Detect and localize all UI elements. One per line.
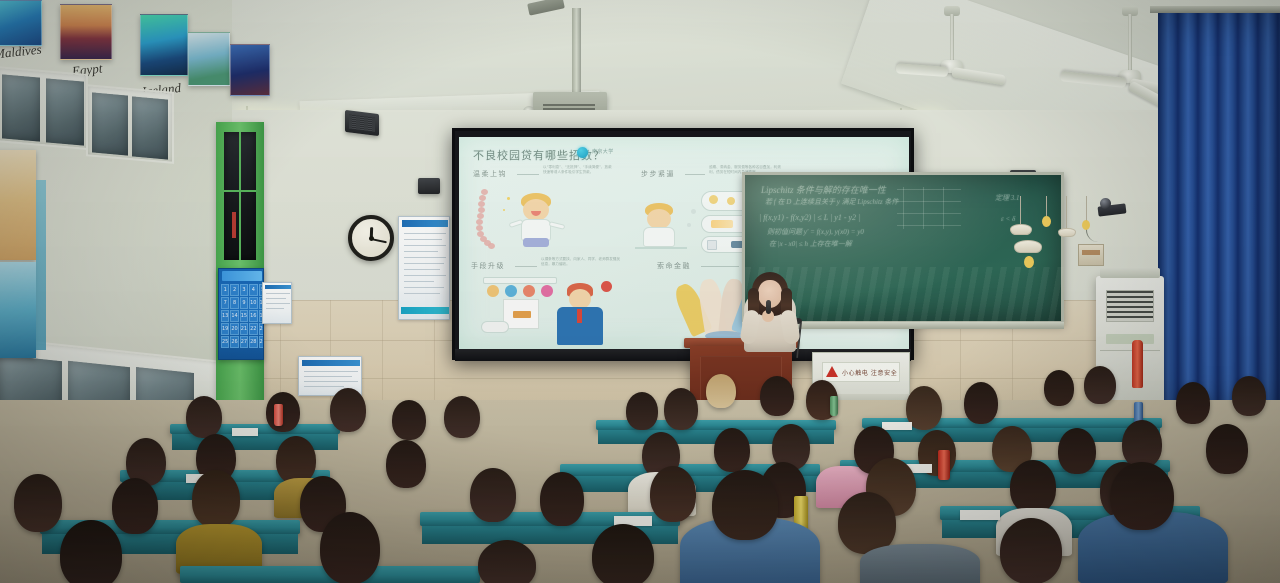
notice-text-line <box>404 275 446 276</box>
student-head <box>14 474 62 532</box>
university-logo-icon <box>577 147 588 158</box>
notice-text-line <box>404 287 444 288</box>
lamp-decal-shade <box>1010 224 1032 235</box>
chalk-line-4: 则初值问题 y' = f(x,y), y(x0) = y0 <box>767 227 864 237</box>
wall-camera-lens <box>1100 198 1111 209</box>
air-conditioner-label <box>1106 334 1154 344</box>
student-torso-foreground <box>860 544 980 583</box>
bulletin-art-left-3 <box>36 180 46 350</box>
notice-text-line <box>404 269 440 270</box>
slide-section-body-1: 以“零利息”、“无抵押”、“手续简便”、放款快速等诱人条件吸引学生贷款。 <box>543 165 615 175</box>
notice-text-line <box>404 251 438 252</box>
calendar-cell: 7 <box>221 297 229 309</box>
student-head <box>1206 424 1248 474</box>
calendar-cell: 22 <box>249 323 257 335</box>
notice-text-line <box>266 308 284 309</box>
slide-art-coin <box>727 197 735 205</box>
student-head <box>1176 382 1210 424</box>
calendar-grid: 1 2 3 4 5 6 7 8 9 10 11 12 13 14 15 16 1… <box>221 284 263 358</box>
chalk-line-1: Lipschitz 条件与解的存在唯一性 <box>761 183 886 196</box>
notebook-on-desk <box>882 422 912 430</box>
notice-text-line <box>304 381 358 382</box>
water-bottle <box>830 396 838 416</box>
slide-section-heading-2: 步步紧逼 <box>641 169 675 179</box>
calendar-cell: 14 <box>230 310 238 322</box>
lamp-decal-cord <box>1086 196 1087 220</box>
notice-text-line <box>404 239 442 240</box>
chalk-line-2: 若 f 在 D 上连续且关于 y 满足 Lipschitz 条件 <box>765 197 898 207</box>
student-head <box>330 388 366 432</box>
calendar-cell: 28 <box>249 336 257 348</box>
slide-art-boy2-face <box>647 209 671 229</box>
student-head <box>650 466 696 522</box>
student-head <box>626 392 658 430</box>
calendar-cell: 13 <box>221 310 229 322</box>
slide-art-sparkle <box>503 209 505 211</box>
calendar-cell: 2 <box>230 284 238 296</box>
notice-text-line <box>304 376 352 377</box>
student-head <box>540 472 584 526</box>
notice-text-line <box>404 263 444 264</box>
calendar-cell: 8 <box>230 297 238 309</box>
slide-art-coin <box>709 195 718 204</box>
calendar-board: 1 2 3 4 5 6 7 8 9 10 11 12 13 14 15 16 1… <box>218 268 264 360</box>
window-glass-3 <box>92 92 128 155</box>
clock-center-pin <box>369 236 374 241</box>
student-head <box>276 436 316 484</box>
projector-pole <box>572 8 581 96</box>
student-head-foreground <box>320 512 380 583</box>
notice-text-line <box>304 371 358 372</box>
calendar-cell: 19 <box>221 323 229 335</box>
calendar-cell: 29 <box>259 336 265 348</box>
student-head <box>760 376 794 416</box>
bulletin-art-left-1 <box>0 150 36 260</box>
curtain-rod <box>1150 6 1280 13</box>
water-bottle-red <box>938 450 950 480</box>
chalk-note-right-2: ε < δ <box>1001 215 1015 223</box>
notice-board-classroom-rules <box>398 216 450 320</box>
wall-sign-text-bar <box>1082 250 1100 255</box>
poster-egypt <box>60 4 112 60</box>
notice-text-line <box>266 298 286 299</box>
slide-section-dash <box>515 266 537 267</box>
lamp-decal-cord <box>1066 196 1067 228</box>
notice-text-line <box>266 303 290 304</box>
calendar-cell: 1 <box>221 284 229 296</box>
slide-art-avatar <box>541 285 553 297</box>
fire-extinguisher <box>1132 340 1143 388</box>
slide-art-desk-line <box>635 247 687 249</box>
door-sign-red <box>232 212 236 238</box>
chalk-grid-line <box>897 213 961 214</box>
slide-section-dash <box>701 266 739 267</box>
student-head <box>444 396 480 438</box>
notice-heading-bar <box>265 285 291 289</box>
student-head <box>714 428 750 472</box>
window-glass-1 <box>2 74 40 141</box>
lamp-decal-cord <box>1020 196 1021 224</box>
door-mullion <box>224 190 256 192</box>
wall-speaker-center <box>418 178 440 194</box>
slide-art-bubble-tail <box>691 209 696 214</box>
calendar-cell: 27 <box>240 336 248 348</box>
door-mullion <box>239 132 241 260</box>
window-curtain <box>1158 12 1280 410</box>
calendar-cell: 25 <box>221 336 229 348</box>
notice-text-line <box>304 386 344 387</box>
lamp-decal-bulb <box>1082 220 1090 230</box>
notice-footer-bar <box>401 307 449 314</box>
slide-section-body-3: 以裸条等方式要挟，向家人、同学、老师群发骚扰信息，暴力催收。 <box>541 257 621 267</box>
notice-text-line <box>404 293 440 294</box>
student-head <box>664 388 698 430</box>
student-head <box>112 478 158 534</box>
lamp-decal-bulb <box>1024 256 1034 268</box>
calendar-cell: 15 <box>240 310 248 322</box>
slide-art-bubble-tail <box>687 223 691 227</box>
calendar-cell: 21 <box>240 323 248 335</box>
student-head <box>964 382 998 424</box>
notice-heading-bar <box>302 360 360 366</box>
student-head <box>470 468 516 522</box>
student-head <box>1122 420 1162 468</box>
notice-text-line <box>404 257 446 258</box>
chalk-line-3: | f(x,y1) - f(x,y2) | ≤ L | y1 - y2 | <box>759 213 860 222</box>
wall-sign-right <box>1078 244 1104 266</box>
slide-art-tie <box>577 309 582 323</box>
slide-art-avatar <box>523 285 535 297</box>
calendar-cell: 23 <box>259 323 265 335</box>
handheld-microphone <box>766 300 771 314</box>
slide-art-boy-arm-right <box>549 221 566 230</box>
classroom-photo: Maldives Egypt Iceland 1 2 3 4 5 6 7 8 <box>0 0 1280 583</box>
university-logo-text: 南京大学 <box>592 148 614 155</box>
student-head <box>1044 370 1074 406</box>
tile-seam <box>382 300 383 410</box>
chalk-grid-line <box>903 187 904 229</box>
slide-section-heading-1: 温柔上钩 <box>473 169 507 179</box>
slide-art-boy2-shirt <box>643 227 675 247</box>
notebook-on-desk <box>232 428 258 436</box>
slide-art-message-box <box>483 277 557 284</box>
student-head <box>266 392 300 432</box>
student-head <box>1058 428 1096 474</box>
slide-art-sparkle <box>507 197 510 200</box>
notice-text-line <box>404 233 446 234</box>
student-head <box>392 400 426 440</box>
warning-triangle-icon <box>826 366 838 377</box>
wall-clock <box>348 215 394 261</box>
slide-art-person-face <box>569 289 591 309</box>
student-head <box>1232 376 1266 416</box>
slide-art-money-stack <box>711 220 733 228</box>
student-head-foreground <box>60 520 122 583</box>
student-head <box>1010 460 1056 514</box>
air-conditioner-panel-seam <box>1100 350 1160 351</box>
poster-maldives <box>0 0 42 46</box>
chalk-grid-line <box>943 187 944 229</box>
slide-section-heading-3: 手段升级 <box>471 261 505 271</box>
notice-text-line <box>404 281 434 282</box>
air-conditioner-grille <box>1106 290 1154 322</box>
student-head-foreground <box>592 524 654 583</box>
student-head-foreground <box>1110 462 1174 530</box>
slide-section-dash <box>517 174 539 175</box>
lamp-decal-cord <box>1046 196 1047 216</box>
slide-art-boy-pants <box>523 238 549 247</box>
calendar-cell: 9 <box>240 297 248 309</box>
poster-night-sky <box>230 44 270 96</box>
poster-iceland <box>140 14 188 76</box>
slide-art-avatar <box>505 285 517 297</box>
notice-board-safety <box>262 282 292 324</box>
notebook-on-desk <box>960 510 1000 520</box>
chalk-grid-line <box>923 187 924 229</box>
calendar-cell: 20 <box>230 323 238 335</box>
bulletin-art-left-2 <box>0 262 36 358</box>
safety-sign-text: 小心触电 注意安全 <box>842 368 897 377</box>
notice-text-line <box>404 245 446 246</box>
chalk-note-right: 定理 3.1 <box>995 193 1020 203</box>
slide-art-apple <box>601 281 612 292</box>
slide-art-pen <box>481 321 509 333</box>
student-head <box>386 440 426 488</box>
lamp-decal-bulb <box>1042 216 1051 227</box>
slide-art-boy-face <box>523 199 549 221</box>
fan-rod-1 <box>1128 14 1132 72</box>
notice-text-line <box>266 293 290 294</box>
calendar-cell: 4 <box>249 284 257 296</box>
student-head-foreground <box>712 470 778 540</box>
poster-glacier <box>188 32 230 86</box>
window-glass-4 <box>132 96 168 159</box>
chalk-line-5: 在 |x - x0| ≤ h 上存在唯一解 <box>769 239 852 249</box>
fan-rod-2 <box>950 14 954 62</box>
student-head <box>186 396 222 438</box>
student-head <box>192 470 240 528</box>
water-bottle <box>274 404 283 426</box>
slide-art-snake <box>475 189 497 251</box>
air-conditioner-top-cap <box>1100 268 1160 278</box>
student-head-foreground <box>1000 518 1062 583</box>
slide-section-heading-4: 索命金融 <box>657 261 691 271</box>
chalk-grid-line <box>897 201 961 202</box>
calendar-cell: 16 <box>249 310 257 322</box>
slide-art-doc-stamp <box>513 311 531 318</box>
student-head-foreground <box>478 540 536 583</box>
calendar-cell: 26 <box>230 336 238 348</box>
window-glass-2 <box>46 78 84 145</box>
slide-art-avatar <box>487 285 499 297</box>
slide-art-phone <box>707 240 717 250</box>
student-head <box>706 374 736 408</box>
chalk-grid-line <box>897 189 961 190</box>
calendar-heading <box>222 271 262 281</box>
lamp-decal-shade-large <box>1014 240 1042 253</box>
slide-section-dash <box>685 174 705 175</box>
calendar-cell: 10 <box>249 297 257 309</box>
calendar-cell: 3 <box>240 284 248 296</box>
student-head <box>1084 366 1116 404</box>
notice-heading-bar <box>402 220 448 227</box>
chalk-grid-line <box>897 225 961 226</box>
lamp-decal-shade <box>1058 228 1076 237</box>
